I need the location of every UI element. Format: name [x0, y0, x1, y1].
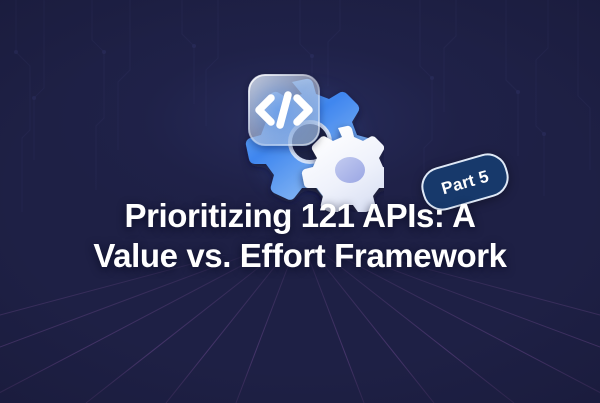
- part-badge-label: Part 5: [439, 167, 490, 197]
- hero-title-line-2: Value vs. Effort Framework: [22, 236, 578, 276]
- hero-banner: Part 5 Prioritizing 121 APIs: A Value vs…: [0, 0, 600, 403]
- code-gears-icon: [238, 66, 384, 212]
- hero-title-line-1: Prioritizing 121 APIs: A: [22, 196, 578, 236]
- code-bracket-square: [248, 74, 320, 146]
- hero-title: Prioritizing 121 APIs: A Value vs. Effor…: [0, 196, 600, 276]
